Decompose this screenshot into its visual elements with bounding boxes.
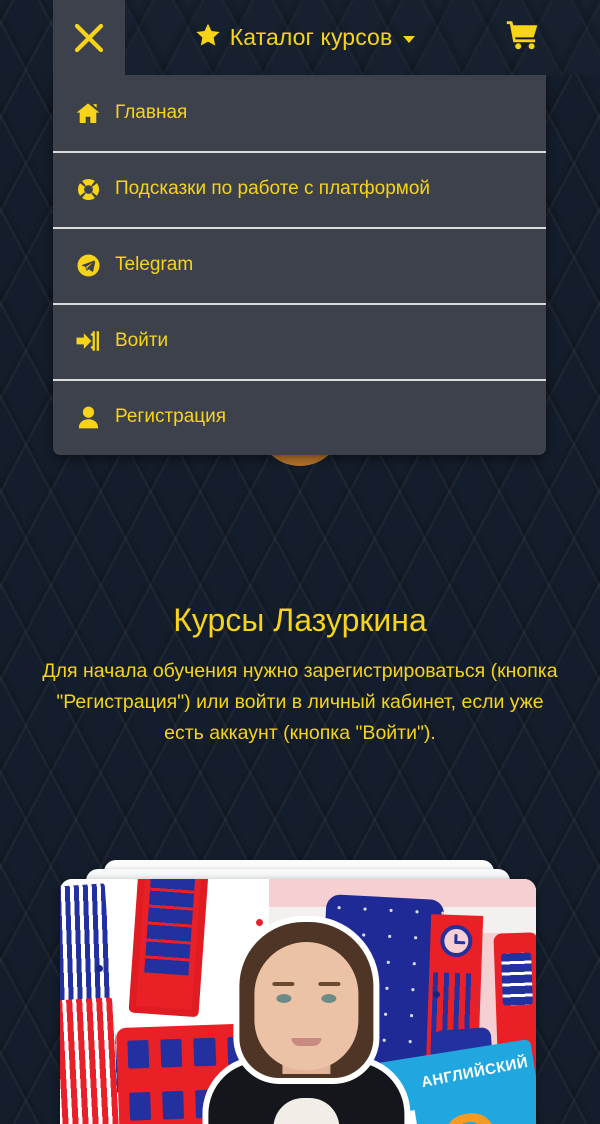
hero-description: Для начала обучения нужно зарегистрирова…: [36, 656, 564, 750]
decor-dot: [96, 965, 103, 972]
main-navigation-menu: Главная Подсказки по работе с платформой…: [53, 75, 546, 455]
instructor-photo: [201, 908, 411, 1124]
bus-window: [124, 1037, 152, 1072]
bus-window: [159, 1088, 187, 1123]
menu-item-registration[interactable]: Регистрация: [53, 379, 546, 455]
home-icon: [75, 102, 101, 124]
menu-item-label: Telegram: [115, 254, 193, 276]
instructor-mouth: [291, 1038, 321, 1046]
shopping-cart-icon: [506, 20, 539, 55]
top-header-bar: Каталог курсов: [0, 0, 600, 75]
menu-item-home[interactable]: Главная: [53, 75, 546, 151]
close-menu-button[interactable]: [53, 0, 125, 75]
catalog-label: Каталог курсов: [230, 24, 393, 51]
menu-item-label: Регистрация: [115, 406, 226, 428]
book-char-e: Э: [440, 1099, 505, 1124]
page-title: Курсы Лазуркина: [36, 600, 564, 640]
life-ring-icon: [75, 178, 101, 201]
menu-item-login[interactable]: Войти: [53, 303, 546, 379]
star-icon: [195, 23, 221, 53]
close-icon: [72, 21, 106, 55]
menu-item-platform-tips[interactable]: Подсказки по работе с платформой: [53, 151, 546, 227]
bus-window: [126, 1089, 154, 1124]
chevron-down-icon: [403, 36, 415, 43]
course-card[interactable]: АНГЛИЙСКИЙ Ц Э: [60, 879, 536, 1124]
menu-item-telegram[interactable]: Telegram: [53, 227, 546, 303]
sign-in-icon: [75, 330, 101, 352]
decor-dot: [433, 991, 440, 998]
instructor-cutout: [201, 908, 411, 1124]
book-subject-label: АНГЛИЙСКИЙ: [419, 1054, 529, 1091]
shopping-cart-button[interactable]: [494, 0, 550, 75]
instructor-eye: [321, 994, 336, 1003]
user-icon: [75, 406, 101, 429]
bus-window: [157, 1036, 185, 1071]
instructor-brow: [318, 982, 340, 986]
red-stripes-icon: [60, 997, 120, 1124]
hero-section: Курсы Лазуркина Для начала обучения нужн…: [0, 600, 600, 750]
telephone-box-icon: [129, 879, 210, 1017]
menu-item-label: Войти: [115, 330, 168, 352]
course-card-stack[interactable]: АНГЛИЙСКИЙ Ц Э: [60, 860, 536, 1124]
catalog-dropdown-button[interactable]: Каталог курсов: [125, 0, 485, 75]
menu-item-label: Подсказки по работе с платформой: [115, 178, 430, 200]
instructor-eye: [276, 994, 291, 1003]
instructor-brow: [272, 982, 294, 986]
menu-item-label: Главная: [115, 102, 187, 124]
instructor-face: [254, 942, 358, 1070]
clock-face-icon: [440, 924, 473, 957]
telegram-icon: [75, 254, 101, 277]
